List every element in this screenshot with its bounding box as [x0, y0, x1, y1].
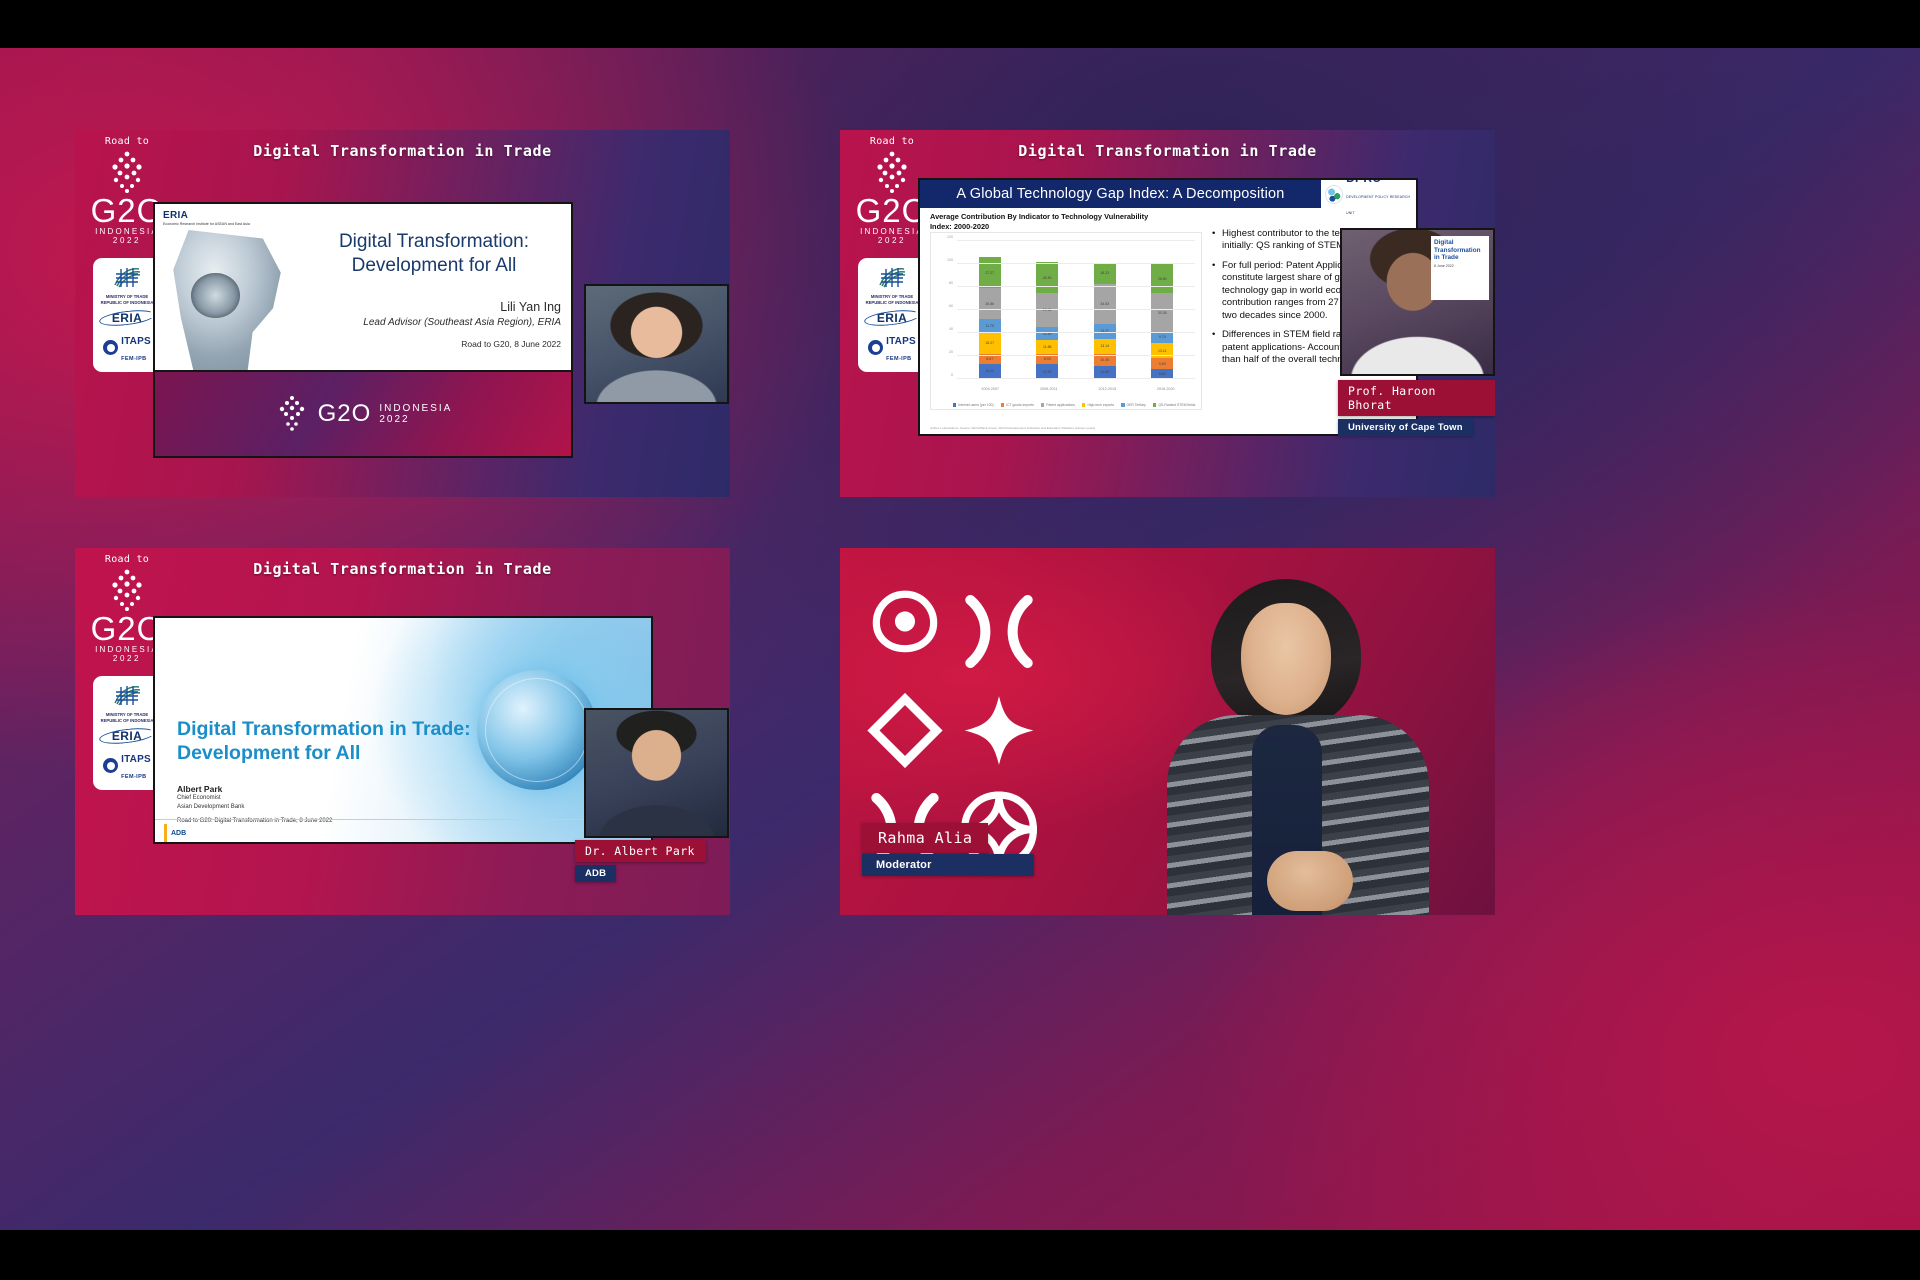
legend-swatch	[1082, 403, 1086, 407]
footer-g20-country: INDONESIA2022	[379, 403, 452, 425]
chart-bar-segment: 9.75	[1151, 332, 1173, 343]
chart-bar-segment: 18.23	[1094, 263, 1116, 284]
legend-label: High-tech exports	[1087, 403, 1114, 407]
face	[1241, 603, 1331, 715]
x-axis-tick: 2004-2007	[970, 387, 1010, 391]
speaker-name: Prof. Haroon Bhorat	[1338, 380, 1495, 416]
ministry-label: MINISTRY OF TRADEREPUBLIC OF INDONESIA	[866, 294, 919, 305]
ministry-of-trade-icon	[112, 265, 142, 289]
batik-ornament-icon	[104, 567, 150, 615]
chart-bar: 27.2726.8611.7518.278.6713.22	[979, 241, 1001, 379]
pip-slide-date: 8 June 2022	[1434, 264, 1486, 268]
chart-bar-segment: 26.86	[979, 288, 1001, 319]
avatar	[586, 710, 727, 836]
participant-thumbnail-lili[interactable]	[584, 284, 729, 404]
grid-line	[957, 286, 1195, 287]
legend-item: High-tech exports	[1082, 403, 1114, 407]
y-axis-tick: 80	[933, 281, 953, 285]
batik-ornament-icon	[104, 149, 150, 197]
g20-year: 2022	[878, 236, 906, 245]
road-to-label: Road to	[105, 136, 149, 147]
grid-line	[957, 309, 1195, 310]
speaker-affiliation: Moderator	[862, 854, 1034, 876]
eria-logo: ERIA	[99, 728, 155, 745]
diamond-ornament-icon	[862, 685, 948, 776]
chart-bar: 18.2334.5313.2713.1410.2611.55	[1094, 241, 1116, 379]
dpru-mark-icon	[1325, 185, 1343, 204]
ministry-of-trade-icon	[112, 683, 142, 707]
x-axis-tick: 2008-2011	[1029, 387, 1069, 391]
itaps-logo: ITAPS FEM-IPB	[868, 332, 916, 364]
x-ornament-icon	[956, 586, 1042, 677]
legend-label: ICT goods imports	[1006, 403, 1034, 407]
ministry-label: MINISTRY OF TRADEREPUBLIC OF INDONESIA	[101, 294, 154, 305]
video-tile-lili-yan-ing[interactable]: Digital Transformation in Trade Road to …	[75, 130, 730, 497]
legend-item: ICT goods imports	[1001, 403, 1034, 407]
slide-title: Digital Transformation in Trade: Develop…	[177, 718, 507, 766]
chart-bar-segment: 27.27	[979, 257, 1001, 288]
chart-bar-segment: 26.50	[1036, 262, 1058, 292]
chart-bar-segment: 11.69	[1036, 327, 1058, 340]
eria-logo: ERIA	[864, 310, 920, 327]
letterbox-top	[0, 0, 1920, 48]
itaps-logo: ITAPS FEM-IPB	[103, 750, 151, 782]
chart-bar-segment: 33.35	[1151, 293, 1173, 331]
y-axis-tick: 40	[933, 327, 953, 331]
chart-bar-segment: 13.14	[1094, 339, 1116, 354]
dpru-logo: DPRU DEVELOPMENT POLICY RESEARCH UNIT	[1321, 180, 1416, 208]
stacked-bar-chart: 27.2726.8611.7518.278.6713.2226.5029.611…	[930, 232, 1202, 410]
slide-title: Digital Transformation: Development for …	[305, 230, 563, 277]
g20-year: 2022	[113, 654, 141, 663]
video-tile-albert-park[interactable]: Digital Transformation in Trade Road to …	[75, 548, 730, 915]
chart-bar-segment: 11.88	[1036, 340, 1058, 354]
grid-line	[957, 355, 1195, 356]
road-to-label: Road to	[105, 554, 149, 565]
itaps-seal-icon	[103, 758, 118, 773]
participant-thumbnail-albert[interactable]	[584, 708, 729, 838]
name-badge-moderator: Rahma Alia Moderator	[862, 823, 1034, 876]
chart-bar-segment: 25.60	[1151, 264, 1173, 293]
y-axis-tick: 100	[933, 258, 953, 262]
legend-item: Internet users (per 100)	[953, 403, 994, 407]
speaker-name: Dr. Albert Park	[575, 840, 706, 862]
chart-bars: 27.2726.8611.7518.278.6713.2226.5029.611…	[961, 241, 1191, 379]
legend-item: Patent applications	[1041, 403, 1075, 407]
video-tile-haroon-bhorat[interactable]: Digital Transformation in Trade Road to …	[840, 130, 1495, 497]
name-badge-albert: Dr. Albert Park ADB	[575, 840, 706, 882]
batik-ornament-icon	[869, 149, 915, 197]
y-axis-tick: 0	[933, 373, 953, 377]
participant-thumbnail-haroon[interactable]: Digital Transformation in Trade 8 June 2…	[1340, 228, 1495, 376]
grid-line	[957, 240, 1195, 241]
shared-slide-sliver: Digital Transformation in Trade 8 June 2…	[1431, 236, 1489, 300]
legend-item: QS-Ranked STEM fields	[1153, 403, 1195, 407]
slide-eria-brand: ERIA Economic Research Institute for ASE…	[163, 210, 250, 227]
screen: Digital Transformation in Trade Road to …	[0, 0, 1920, 1280]
speaker-affiliation: ADB	[575, 865, 616, 882]
road-to-label: Road to	[870, 136, 914, 147]
chart-bar-segment: 18.27	[979, 333, 1001, 354]
chart-x-axis-labels: 2004-20072008-20112012-20152016-2020	[961, 387, 1195, 391]
legend-label: Internet users (per 100)	[958, 403, 993, 407]
sponsor-logo-card: MINISTRY OF TRADEREPUBLIC OF INDONESIA E…	[93, 258, 161, 372]
g20-country: INDONESIA	[860, 227, 924, 236]
robot-head-image	[163, 230, 291, 372]
chart-bar-segment: 9.60	[1151, 358, 1173, 369]
slide-author-block: Lili Yan Ing Lead Advisor (Southeast Asi…	[363, 300, 561, 349]
slide-adb-title[interactable]: Digital Transformation in Trade: Develop…	[153, 616, 653, 844]
slide-author-block: Albert Park Chief Economist Asian Develo…	[177, 784, 244, 811]
hands	[1267, 851, 1353, 911]
chart-bar-segment: 13.22	[979, 364, 1001, 379]
legend-swatch	[1121, 403, 1125, 407]
legend-item: GER Tertiary	[1121, 403, 1146, 407]
moderator-figure	[1149, 575, 1449, 915]
y-axis-tick: 20	[933, 350, 953, 354]
chart-bar: 26.5029.6111.6911.888.9312.92	[1036, 241, 1058, 379]
chart-plot-area: 27.2726.8611.7518.278.6713.2226.5029.611…	[957, 241, 1195, 379]
grid-line	[957, 332, 1195, 333]
g20-year: 2022	[113, 236, 141, 245]
y-axis-tick: 120	[933, 235, 953, 239]
slide-header: A Global Technology Gap Index: A Decompo…	[920, 180, 1416, 208]
sponsor-logo-card: MINISTRY OF TRADEREPUBLIC OF INDONESIA E…	[93, 676, 161, 790]
avatar	[586, 286, 727, 402]
legend-label: Patent applications	[1046, 403, 1075, 407]
video-grid: Digital Transformation in Trade Road to …	[0, 48, 1920, 1230]
g20-country: INDONESIA	[95, 645, 159, 654]
ministry-of-trade-icon	[877, 265, 907, 289]
name-badge-haroon: Prof. Haroon Bhorat University of Cape T…	[1338, 380, 1495, 436]
y-axis-tick: 60	[933, 304, 953, 308]
grid-line	[957, 378, 1195, 379]
chart-bar: 25.6033.359.7513.119.608.60	[1151, 241, 1173, 379]
x-axis-tick: 2012-2015	[1087, 387, 1127, 391]
slide-footer-g20: G2O INDONESIA2022	[153, 372, 573, 458]
chart-source-note: Author's calculations. Source: World Ban…	[930, 426, 1095, 430]
sponsor-logo-card: MINISTRY OF TRADEREPUBLIC OF INDONESIA E…	[858, 258, 926, 372]
chart-bar-segment: 11.75	[979, 319, 1001, 333]
chart-legend: Internet users (per 100)ICT goods import…	[951, 403, 1197, 407]
legend-swatch	[1041, 403, 1045, 407]
slide-divider	[155, 819, 651, 820]
footer-g20-wordmark: G2O	[318, 400, 372, 428]
star-ornament-icon	[956, 685, 1042, 776]
letterbox-bottom	[0, 1230, 1920, 1280]
chart-bar-segment: 34.53	[1094, 284, 1116, 324]
legend-swatch	[1001, 403, 1005, 407]
deck-title: Digital Transformation in Trade	[75, 142, 730, 160]
chart-bar-segment: 11.55	[1094, 366, 1116, 379]
pip-slide-title: Digital Transformation in Trade	[1434, 239, 1486, 262]
video-tile-rahma-alia[interactable]: Rahma Alia Moderator	[840, 548, 1495, 915]
chart-bar-segment: 12.92	[1036, 364, 1058, 379]
deck-title: Digital Transformation in Trade	[840, 142, 1495, 160]
deck-title: Digital Transformation in Trade	[75, 560, 730, 578]
grid-line	[957, 263, 1195, 264]
adb-logo: ADB	[171, 830, 186, 837]
legend-swatch	[953, 403, 957, 407]
ministry-label: MINISTRY OF TRADEREPUBLIC OF INDONESIA	[101, 712, 154, 723]
itaps-seal-icon	[103, 340, 118, 355]
itaps-logo: ITAPS FEM-IPB	[103, 332, 151, 364]
ornament-pattern	[862, 586, 1042, 824]
speaker-affiliation: University of Cape Town	[1338, 419, 1473, 436]
legend-label: GER Tertiary	[1127, 403, 1146, 407]
flower-ornament-icon	[862, 586, 948, 677]
itaps-seal-icon	[868, 340, 883, 355]
legend-swatch	[1153, 403, 1157, 407]
batik-ornament-icon	[274, 394, 310, 434]
x-axis-tick: 2016-2020	[1146, 387, 1186, 391]
slide-header-title: A Global Technology Gap Index: A Decompo…	[920, 186, 1321, 202]
eria-logo: ERIA	[99, 310, 155, 327]
g20-country: INDONESIA	[95, 227, 159, 236]
slide-title-lili[interactable]: ERIA Economic Research Institute for ASE…	[153, 202, 573, 372]
legend-label: QS-Ranked STEM fields	[1158, 403, 1195, 407]
speaker-name: Rahma Alia	[862, 823, 988, 853]
